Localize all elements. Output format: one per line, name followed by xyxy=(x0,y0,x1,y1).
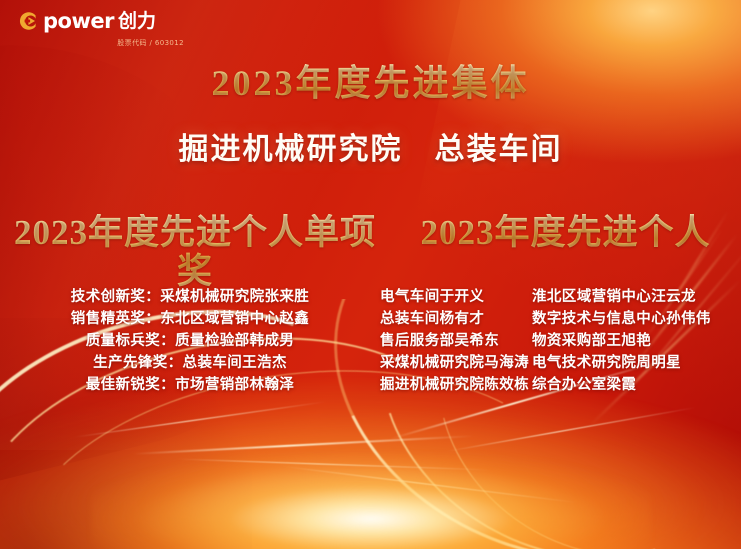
c-power-circle-arrow-icon xyxy=(18,10,40,32)
list-item: 售后服务部吴希东 物资采购部王旭艳 xyxy=(380,330,741,352)
individual-name: 数字技术与信息中心孙伟伟 xyxy=(532,308,732,330)
individual-name: 掘进机械研究院陈效栋 xyxy=(380,374,532,396)
brand-logo-row: power 创力 xyxy=(18,10,198,32)
list-item: 质量标兵奖：质量检验部韩成男 xyxy=(86,330,295,352)
individual-name: 淮北区域营销中心汪云龙 xyxy=(532,286,732,308)
list-item: 销售精英奖：东北区域营销中心赵鑫 xyxy=(71,308,309,330)
poster-subtitle: 掘进机械研究院 总装车间 xyxy=(0,133,741,166)
single-awards-column: 技术创新奖：采煤机械研究院张来胜 销售精英奖：东北区域营销中心赵鑫 质量标兵奖：… xyxy=(0,286,380,396)
list-item: 最佳新锐奖：市场营销部林翰泽 xyxy=(86,374,295,396)
brand-logo-chinese: 创力 xyxy=(118,12,156,31)
list-item: 采煤机械研究院马海涛 电气技术研究院周明星 xyxy=(380,352,741,374)
stock-code-label: 股票代码 / 603012 xyxy=(18,38,198,48)
individual-name: 电气技术研究院周明星 xyxy=(532,352,732,374)
individual-name: 采煤机械研究院马海涛 xyxy=(380,352,532,374)
heading-individuals: 2023年度先进个人 xyxy=(390,214,741,253)
poster-title: 2023年度先进集体 xyxy=(0,64,741,104)
brand-logo-wordmark: power xyxy=(43,11,114,32)
individual-name: 售后服务部吴希东 xyxy=(380,330,532,352)
award-lists: 技术创新奖：采煤机械研究院张来胜 销售精英奖：东北区域营销中心赵鑫 质量标兵奖：… xyxy=(0,286,741,396)
individual-name: 综合办公室梁霞 xyxy=(532,374,732,396)
individual-name: 电气车间于开义 xyxy=(380,286,532,308)
section-headings: 2023年度先进个人单项奖 2023年度先进个人 xyxy=(0,214,741,291)
list-item: 总装车间杨有才 数字技术与信息中心孙伟伟 xyxy=(380,308,741,330)
individuals-column: 电气车间于开义 淮北区域营销中心汪云龙 总装车间杨有才 数字技术与信息中心孙伟伟… xyxy=(380,286,741,396)
list-item: 掘进机械研究院陈效栋 综合办公室梁霞 xyxy=(380,374,741,396)
individual-name: 总装车间杨有才 xyxy=(380,308,532,330)
award-poster: power 创力 股票代码 / 603012 2023年度先进集体 掘进机械研究… xyxy=(0,0,741,549)
individual-name: 物资采购部王旭艳 xyxy=(532,330,732,352)
list-item: 技术创新奖：采煤机械研究院张来胜 xyxy=(71,286,309,308)
list-item: 生产先锋奖：总装车间王浩杰 xyxy=(93,352,287,374)
brand-logo: power 创力 股票代码 / 603012 xyxy=(18,10,198,48)
heading-single-awards: 2023年度先进个人单项奖 xyxy=(0,214,390,291)
list-item: 电气车间于开义 淮北区域营销中心汪云龙 xyxy=(380,286,741,308)
